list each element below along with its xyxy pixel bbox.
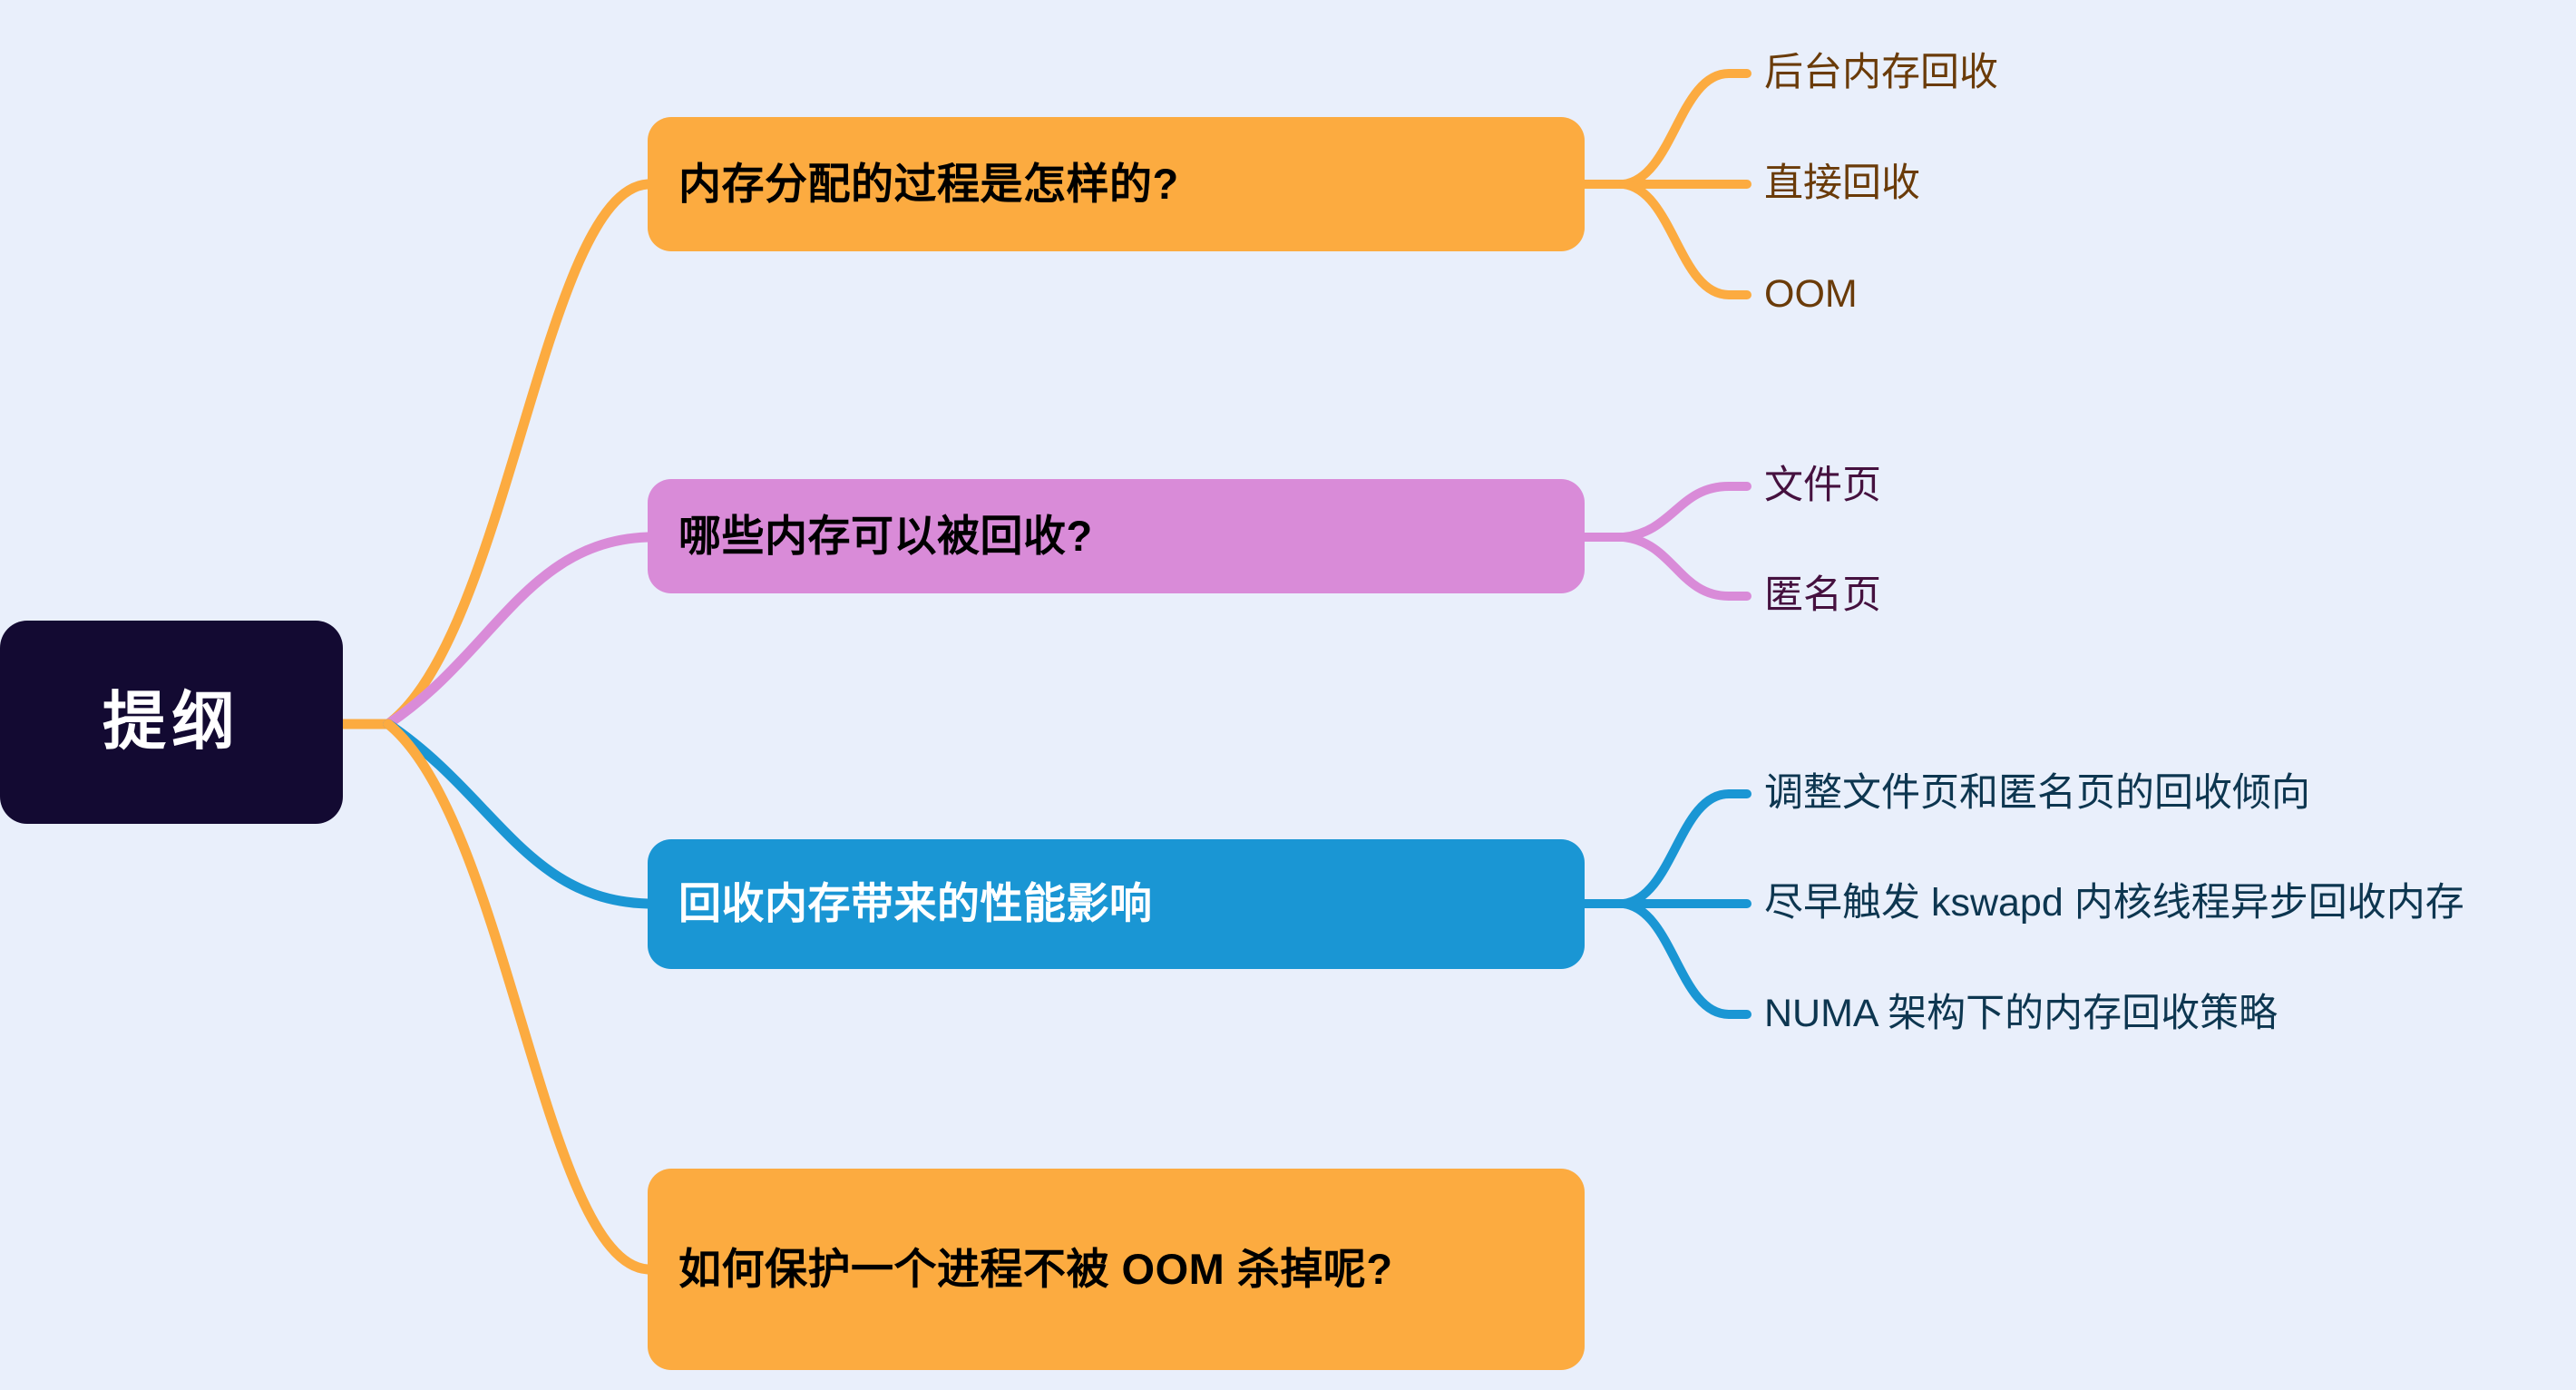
mindmap-leaf-kswapd-async-reclaim[interactable]: 尽早触发 kswapd 内核线程异步回收内存 [1764, 876, 2464, 931]
mindmap-branch-node-performance-impact[interactable]: 回收内存带来的性能影响 [648, 839, 1585, 969]
edge-root-to-branch-0 [388, 184, 648, 724]
mindmap-leaf-direct-reclaim[interactable]: 直接回收 [1764, 157, 1920, 211]
root-node-label: 提纲 [102, 681, 240, 763]
mindmap-leaf-numa-reclaim-policy[interactable]: NUMA 架构下的内存回收策略 [1764, 987, 2278, 1042]
edge-branch-0-to-child-2 [1624, 184, 1747, 295]
mindmap-leaf-file-page[interactable]: 文件页 [1764, 459, 1881, 514]
edge-root-to-branch-1 [388, 537, 648, 724]
leaf-label: 后台内存回收 [1764, 52, 1998, 94]
mindmap-branch-node-memory-allocation[interactable]: 内存分配的过程是怎样的? [648, 117, 1585, 251]
mindmap-leaf-adjust-reclaim-tendency[interactable]: 调整文件页和匿名页的回收倾向 [1764, 767, 2310, 821]
leaf-label: 匿名页 [1764, 574, 1881, 617]
leaf-label: 调整文件页和匿名页的回收倾向 [1764, 772, 2310, 815]
edge-branch-2-to-child-2 [1624, 904, 1747, 1014]
mindmap-root-node[interactable]: 提纲 [0, 621, 343, 824]
branch-node-label: 回收内存带来的性能影响 [678, 876, 1153, 931]
mindmap-leaf-oom[interactable]: OOM [1764, 268, 1858, 322]
leaf-label: NUMA 架构下的内存回收策略 [1764, 993, 2278, 1035]
mindmap-leaf-background-reclaim[interactable]: 后台内存回收 [1764, 46, 1998, 101]
edge-root-to-branch-3 [388, 724, 648, 1269]
mindmap-branch-node-protect-from-oom[interactable]: 如何保护一个进程不被 OOM 杀掉呢? [648, 1169, 1585, 1370]
branch-node-label: 内存分配的过程是怎样的? [678, 157, 1179, 211]
edge-branch-2-to-child-0 [1624, 794, 1747, 904]
branch-node-label: 哪些内存可以被回收? [678, 509, 1093, 563]
leaf-label: OOM [1764, 273, 1858, 316]
edge-root-to-branch-2 [388, 724, 648, 904]
mindmap-canvas: 提纲 内存分配的过程是怎样的? 哪些内存可以被回收? 回收内存带来的性能影响 如… [0, 0, 2576, 1390]
mindmap-branch-node-reclaimable-memory[interactable]: 哪些内存可以被回收? [648, 479, 1585, 593]
branch-node-label: 如何保护一个进程不被 OOM 杀掉呢? [678, 1242, 1393, 1297]
leaf-label: 尽早触发 kswapd 内核线程异步回收内存 [1764, 882, 2464, 925]
leaf-label: 文件页 [1764, 465, 1881, 507]
edge-branch-0-to-child-0 [1624, 73, 1747, 184]
edge-branch-1-to-child-0 [1624, 486, 1747, 537]
mindmap-leaf-anonymous-page[interactable]: 匿名页 [1764, 569, 1881, 623]
edge-branch-1-to-child-1 [1624, 537, 1747, 596]
leaf-label: 直接回收 [1764, 162, 1920, 205]
